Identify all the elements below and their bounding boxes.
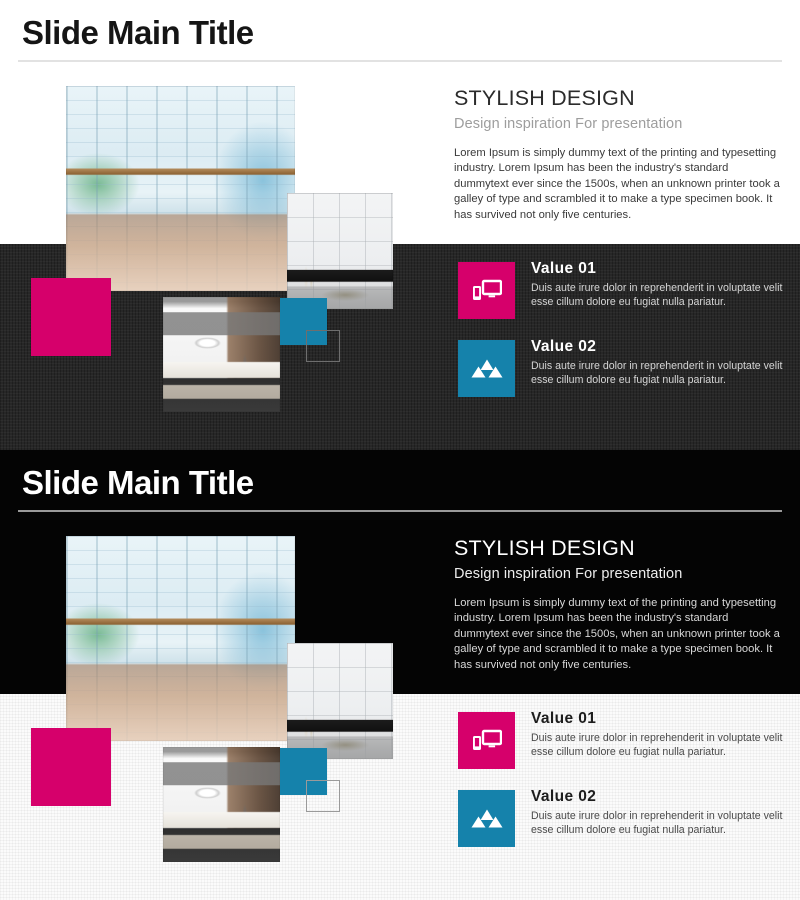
photo-white-living-room[interactable] (163, 297, 280, 412)
pink-square (31, 278, 111, 356)
slide-dark[interactable]: Slide Main Title STYLISH DESIGN Design i… (0, 450, 800, 900)
slide-light[interactable]: Slide Main Title STYLISH DESIGN Design i… (0, 0, 800, 450)
page-title: Slide Main Title (22, 464, 254, 502)
text-column-light: STYLISH DESIGN Design inspiration For pr… (454, 86, 784, 223)
photo-glass-atrium[interactable] (66, 86, 295, 291)
outline-square (306, 330, 340, 362)
photo-white-living-room[interactable] (163, 747, 280, 862)
value-description: Duis aute irure dolor in reprehenderit i… (531, 281, 789, 310)
headline: STYLISH DESIGN (454, 536, 784, 561)
value-description: Duis aute irure dolor in reprehenderit i… (531, 731, 789, 760)
body-paragraph: Lorem Ipsum is simply dummy text of the … (454, 596, 784, 673)
photo-glass-atrium[interactable] (66, 536, 295, 741)
value-description: Duis aute irure dolor in reprehenderit i… (531, 359, 789, 388)
value-title: Value 02 (531, 338, 789, 356)
text-column-dark: STYLISH DESIGN Design inspiration For pr… (454, 536, 784, 673)
value-row-01[interactable]: Value 01 Duis aute irure dolor in repreh… (458, 712, 788, 770)
mountains-icon (458, 340, 515, 397)
photo-white-bench-room[interactable] (287, 643, 393, 759)
monitor-devices-icon (458, 712, 515, 769)
pink-square (31, 728, 111, 806)
subheadline: Design inspiration For presentation (454, 566, 784, 582)
value-description: Duis aute irure dolor in reprehenderit i… (531, 809, 789, 838)
value-row-01[interactable]: Value 01 Duis aute irure dolor in repreh… (458, 262, 788, 320)
headline: STYLISH DESIGN (454, 86, 784, 111)
outline-square (306, 780, 340, 812)
body-paragraph: Lorem Ipsum is simply dummy text of the … (454, 146, 784, 223)
value-title: Value 02 (531, 788, 789, 806)
subheadline: Design inspiration For presentation (454, 116, 784, 132)
page-title: Slide Main Title (22, 14, 254, 52)
value-title: Value 01 (531, 710, 789, 728)
photo-white-bench-room[interactable] (287, 193, 393, 309)
monitor-devices-icon (458, 262, 515, 319)
value-title: Value 01 (531, 260, 789, 278)
title-divider (18, 510, 782, 512)
mountains-icon (458, 790, 515, 847)
value-row-02[interactable]: Value 02 Duis aute irure dolor in repreh… (458, 340, 788, 398)
title-divider (18, 60, 782, 62)
presentation-preview: Slide Main Title STYLISH DESIGN Design i… (0, 0, 800, 900)
value-row-02[interactable]: Value 02 Duis aute irure dolor in repreh… (458, 790, 788, 848)
